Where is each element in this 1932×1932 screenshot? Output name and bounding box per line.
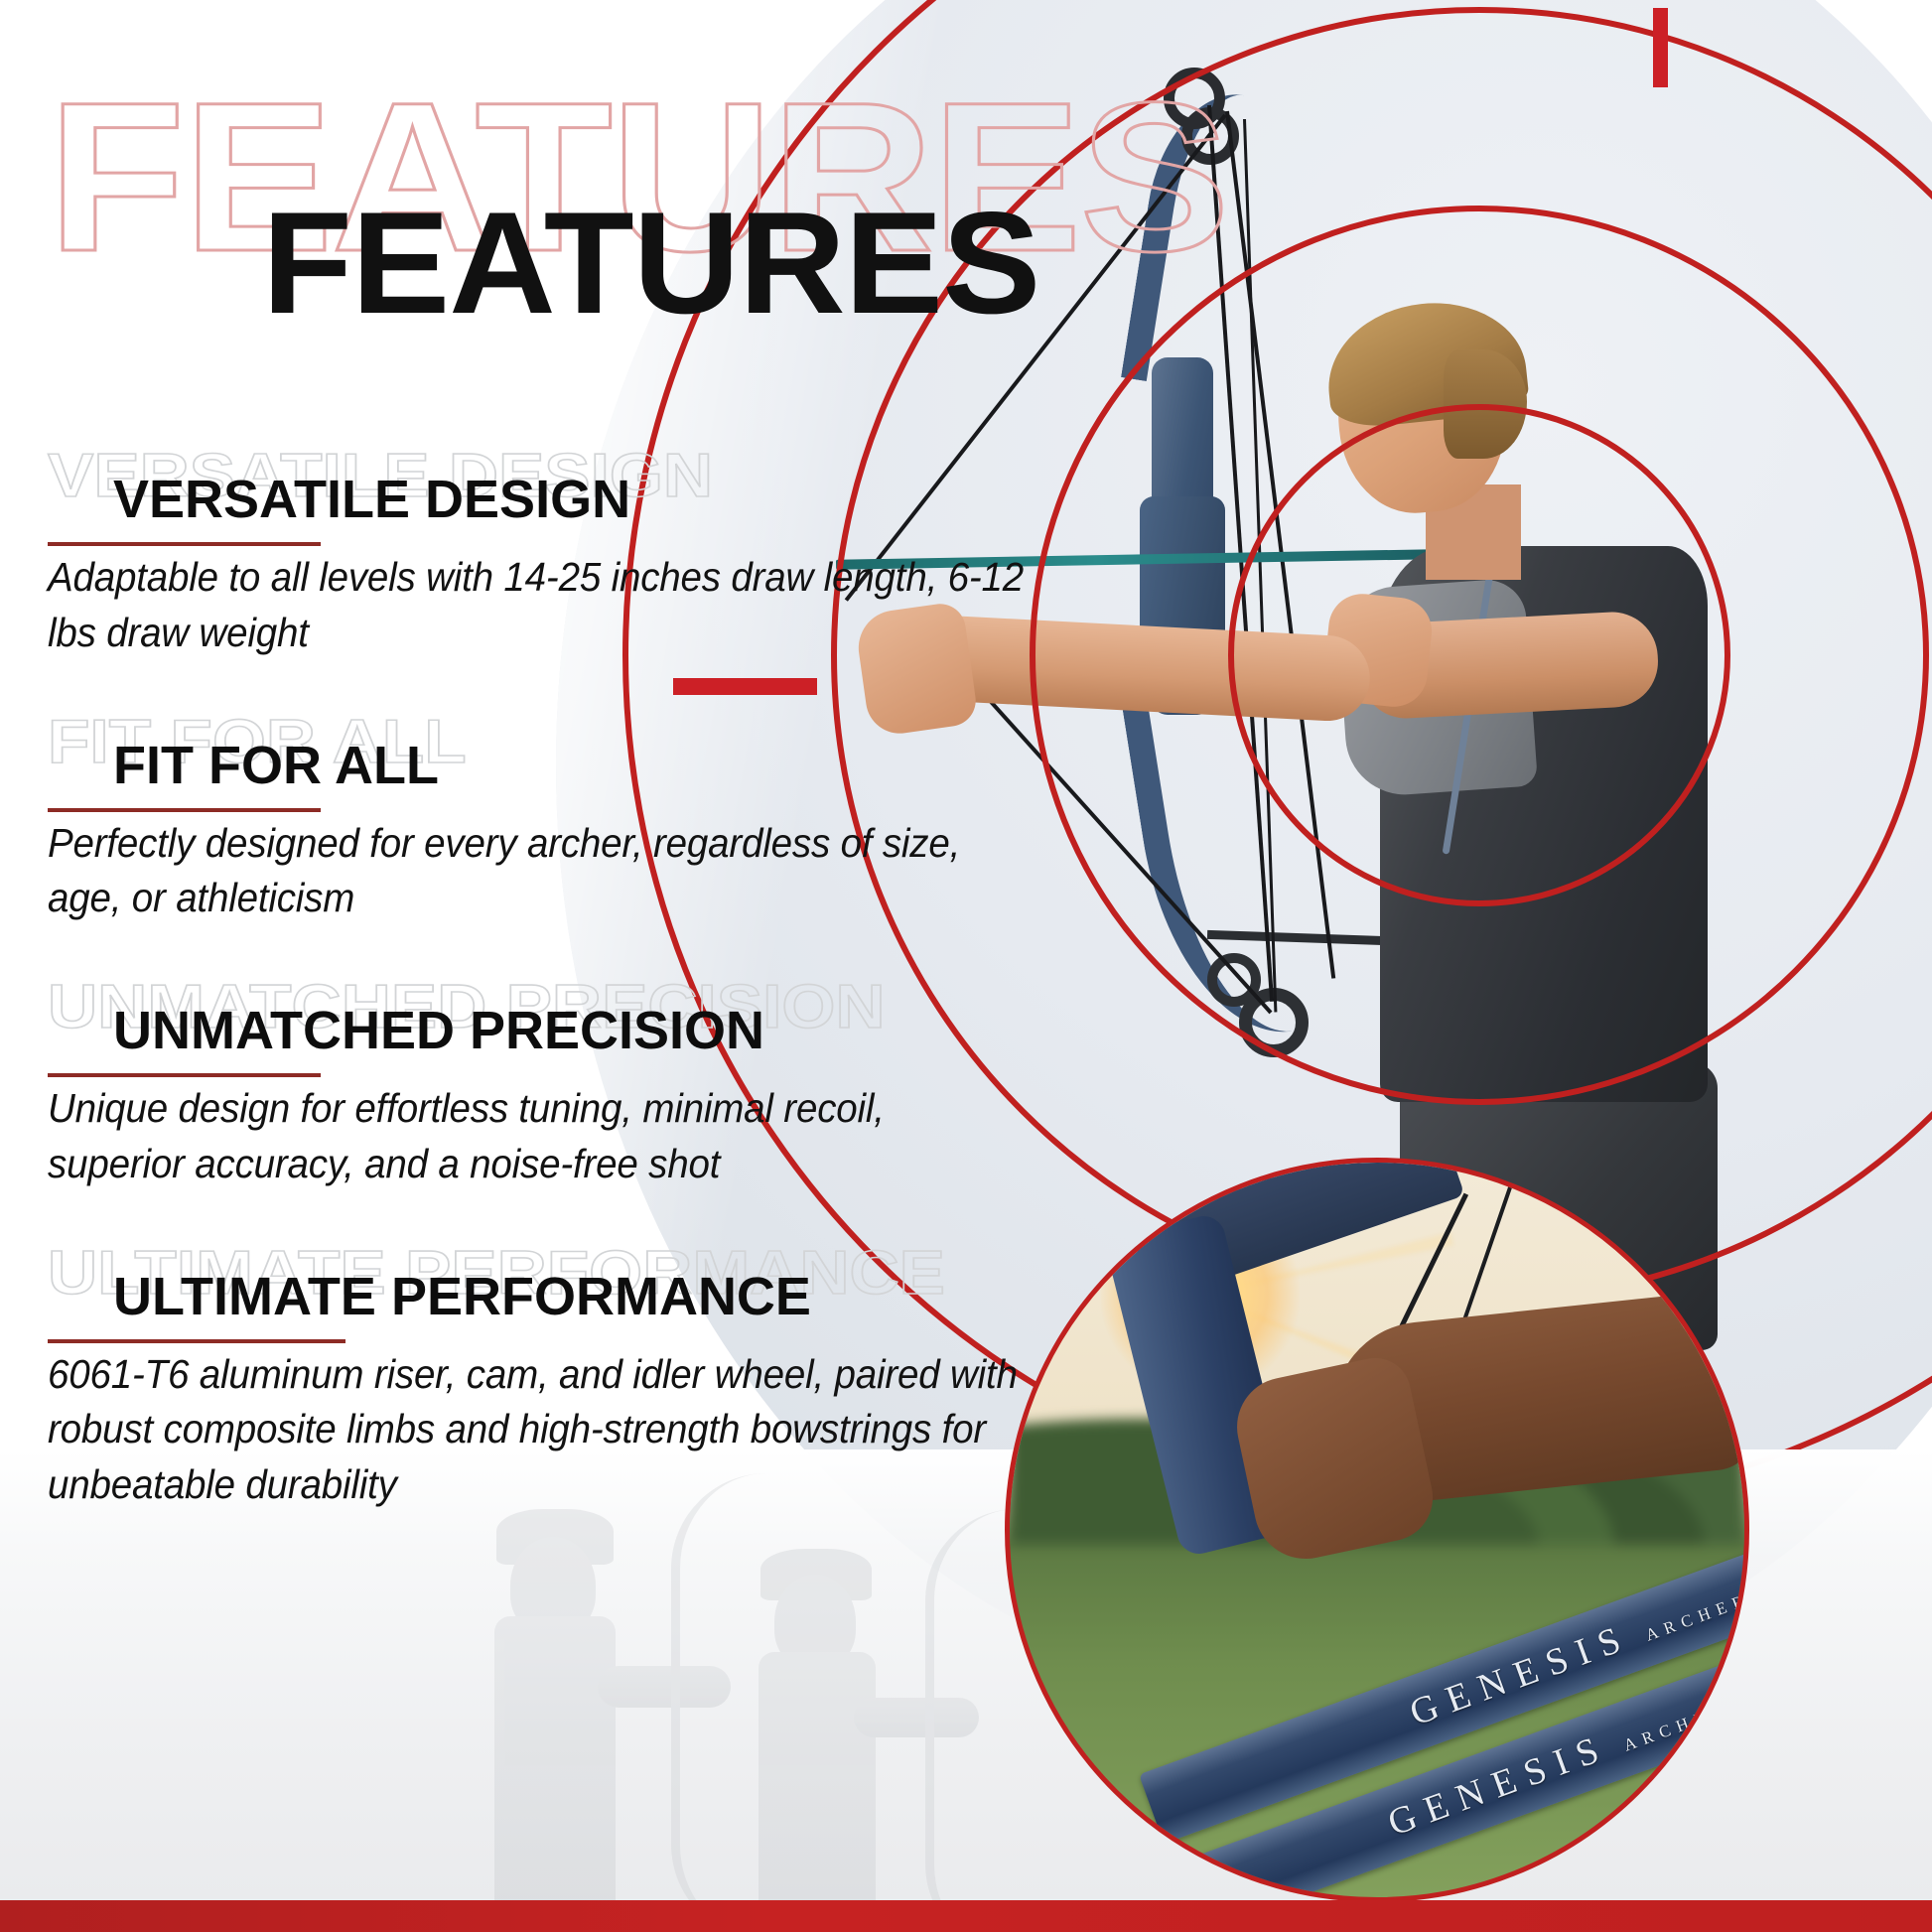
feature-item-ultimate-performance: ULTIMATE PERFORMANCE ULTIMATE PERFORMANC… [48, 1244, 1100, 1513]
features-content: FEATURES FEATURES VERSATILE DESIGN VERSA… [0, 0, 1112, 1932]
bow-grip [1140, 496, 1225, 645]
feature-heading-wrap: VERSATILE DESIGN VERSATILE DESIGN [48, 447, 1100, 550]
feature-body: Perfectly designed for every archer, reg… [48, 816, 1028, 927]
page-title-block: FEATURES FEATURES [48, 71, 1100, 310]
feature-list: VERSATILE DESIGN VERSATILE DESIGN Adapta… [48, 447, 1100, 1565]
feature-heading-wrap: ULTIMATE PERFORMANCE ULTIMATE PERFORMANC… [48, 1244, 1100, 1347]
feature-item-versatile-design: VERSATILE DESIGN VERSATILE DESIGN Adapta… [48, 447, 1100, 661]
archer-figure [1231, 298, 1747, 1291]
feature-heading: ULTIMATE PERFORMANCE [113, 1266, 811, 1327]
feature-underline [48, 1339, 345, 1343]
page-title: FEATURES [262, 191, 1039, 336]
feature-underline [48, 1073, 321, 1077]
feature-heading: VERSATILE DESIGN [113, 469, 630, 530]
feature-heading: FIT FOR ALL [113, 735, 439, 796]
feature-heading-wrap: UNMATCHED PRECISION UNMATCHED PRECISION [48, 978, 1100, 1081]
bottom-accent-bar [0, 1900, 1932, 1932]
feature-body: Adaptable to all levels with 14-25 inche… [48, 550, 1028, 661]
inset-detail-photo: GENESISARCHERY GENESISARCHERY [1005, 1158, 1749, 1902]
feature-heading: UNMATCHED PRECISION [113, 1000, 764, 1061]
feature-underline [48, 808, 321, 812]
poster-canvas: GENESISARCHERY GENESISARCHERY FEATURES F… [0, 0, 1932, 1932]
feature-body: 6061-T6 aluminum riser, cam, and idler w… [48, 1347, 1028, 1513]
feature-body: Unique design for effortless tuning, min… [48, 1081, 1028, 1192]
feature-item-unmatched-precision: UNMATCHED PRECISION UNMATCHED PRECISION … [48, 978, 1100, 1192]
feature-item-fit-for-all: FIT FOR ALL FIT FOR ALL Perfectly design… [48, 713, 1100, 927]
feature-heading-wrap: FIT FOR ALL FIT FOR ALL [48, 713, 1100, 816]
archer-hair-side [1444, 349, 1527, 459]
target-tick-vertical [1653, 8, 1668, 87]
feature-underline [48, 542, 321, 546]
